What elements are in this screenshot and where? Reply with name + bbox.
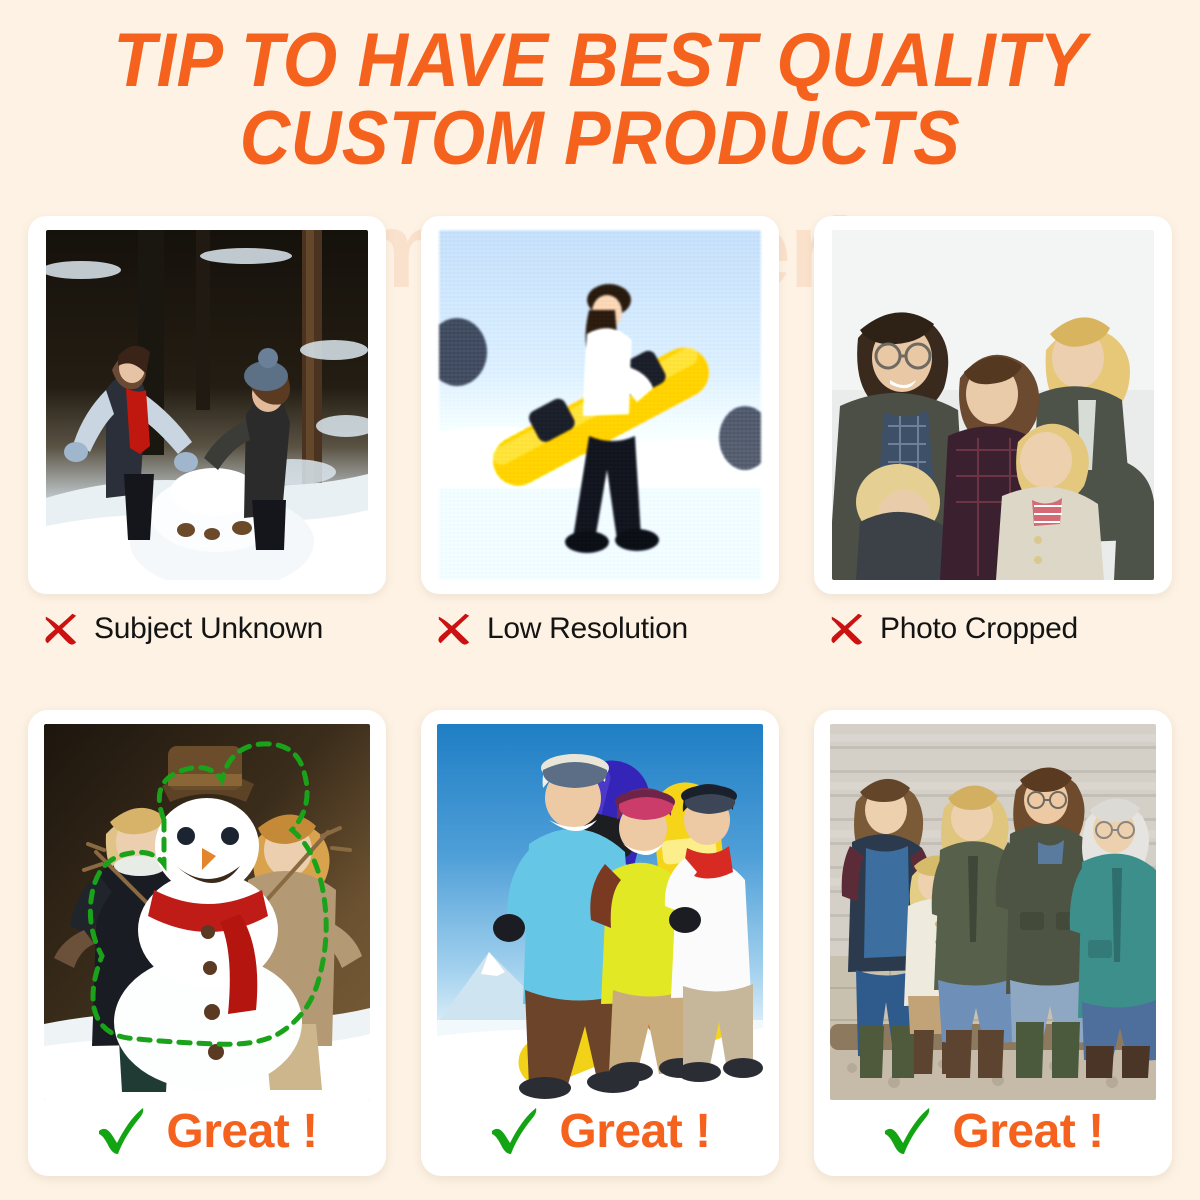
example-card-great-family: Great !: [814, 710, 1172, 1180]
photo-cropped: [832, 230, 1154, 580]
photo-card: Great !: [421, 710, 779, 1176]
photo-subject-unknown: [46, 230, 368, 580]
photo-great-snowboarders: [437, 724, 763, 1100]
great-label-row: Great !: [437, 1100, 763, 1166]
photo-card: Great !: [28, 710, 386, 1176]
title-line-1: TIP TO HAVE BEST QUALITY: [48, 22, 1152, 100]
photo-card: Great !: [814, 710, 1172, 1176]
photo-great-snowman: [44, 724, 370, 1100]
example-card-photo-cropped: Photo Cropped: [814, 216, 1172, 656]
low-res-noise-overlay: [439, 230, 761, 580]
snowboarders-illustration: [437, 724, 763, 1100]
photo-great-family: [830, 724, 1156, 1100]
check-mark-icon: [96, 1105, 146, 1157]
page-title: TIP TO HAVE BEST QUALITY CUSTOM PRODUCTS: [0, 22, 1200, 178]
caption-label: Photo Cropped: [880, 612, 1078, 646]
caption-photo-cropped: Photo Cropped: [814, 610, 1172, 648]
photo-card: [421, 216, 779, 594]
great-label-row: Great !: [830, 1100, 1156, 1166]
bad-examples-row: Subject Unknown: [0, 216, 1200, 656]
caption-subject-unknown: Subject Unknown: [28, 610, 386, 648]
caption-label: Subject Unknown: [94, 612, 323, 646]
good-examples-row: Great !: [0, 710, 1200, 1180]
snowy-forest-illustration: [46, 230, 368, 580]
example-card-great-snowman: Great !: [28, 710, 386, 1180]
x-mark-icon: [42, 610, 80, 648]
example-card-subject-unknown: Subject Unknown: [28, 216, 386, 656]
caption-low-resolution: Low Resolution: [421, 610, 779, 648]
great-label: Great !: [166, 1104, 317, 1159]
title-line-2: CUSTOM PRODUCTS: [48, 100, 1152, 178]
check-mark-icon: [489, 1105, 539, 1157]
great-label-row: Great !: [44, 1100, 370, 1166]
caption-label: Low Resolution: [487, 612, 688, 646]
examples-grid: Subject Unknown: [0, 216, 1200, 1180]
photo-card: [814, 216, 1172, 594]
family-wall-illustration: [830, 724, 1156, 1100]
x-mark-icon: [435, 610, 473, 648]
great-label: Great !: [952, 1104, 1103, 1159]
photo-card: [28, 216, 386, 594]
check-mark-icon: [882, 1105, 932, 1157]
great-label: Great !: [559, 1104, 710, 1159]
example-card-great-snowboarders: Great !: [421, 710, 779, 1180]
snowman-cutout-illustration: [44, 724, 370, 1100]
example-card-low-resolution: Low Resolution: [421, 216, 779, 656]
photo-low-resolution: [439, 230, 761, 580]
x-mark-icon: [828, 610, 866, 648]
cropped-family-illustration: [832, 230, 1154, 580]
